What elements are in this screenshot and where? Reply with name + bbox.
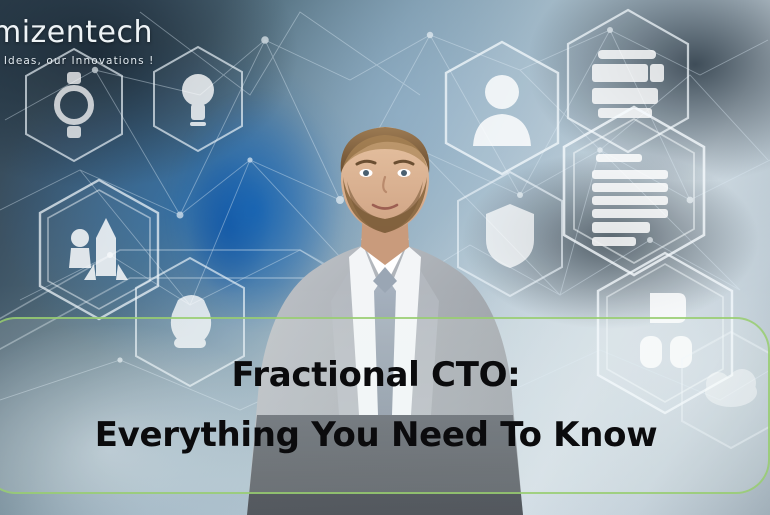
logo-wordmark: mizentech — [0, 18, 175, 48]
title-line-2: Everything You Need To Know — [95, 418, 658, 454]
featured-image-canvas: mizentech r Ideas, our Innovations ! Fra… — [0, 0, 770, 515]
title-banner: Fractional CTO: Everything You Need To K… — [0, 317, 770, 494]
site-logo[interactable]: mizentech r Ideas, our Innovations ! — [0, 18, 175, 67]
title-line-1: Fractional CTO: — [232, 358, 521, 394]
logo-tagline: r Ideas, our Innovations ! — [0, 55, 175, 67]
